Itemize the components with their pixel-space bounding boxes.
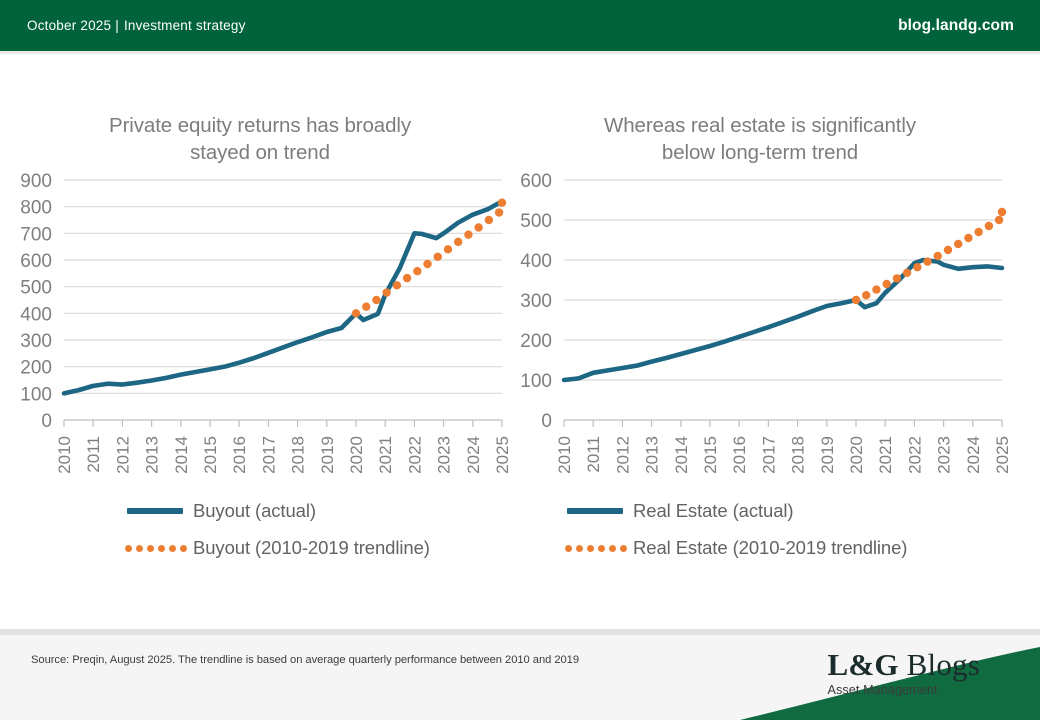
chart-title-line1: Private equity returns has broadly — [10, 112, 510, 139]
x-axis-tick-label: 2021 — [376, 436, 395, 474]
y-axis-tick-label: 800 — [20, 198, 52, 219]
logo-blogs: Blogs — [907, 647, 980, 682]
brand-logo: L&G Blogs Asset Management — [827, 648, 980, 697]
y-axis-tick-label: 900 — [20, 172, 52, 192]
legend-key-solid-line-icon — [123, 504, 185, 518]
y-axis-tick-label: 600 — [520, 172, 552, 192]
legend-item-actual[interactable]: Buyout (actual) — [10, 492, 510, 529]
x-axis-tick-label: 2023 — [935, 436, 954, 474]
chart-title-line2: stayed on trend — [10, 139, 510, 166]
header-separator: | — [111, 18, 124, 33]
series-line-actual — [564, 260, 1002, 380]
y-axis-tick-label: 400 — [20, 304, 52, 325]
chart-panel-private-equity: Private equity returns has broadly staye… — [10, 54, 510, 629]
legend-real-estate: Real Estate (actual) Real Estate (2010-2… — [510, 492, 1010, 566]
y-axis-tick-label: 500 — [20, 278, 52, 299]
header-meta: October 2025|Investment strategy — [27, 18, 246, 33]
x-axis-tick-label: 2019 — [818, 436, 837, 474]
header-date: October 2025 — [27, 18, 111, 33]
legend-label-trendline: Real Estate (2010-2019 trendline) — [633, 537, 907, 559]
x-axis-tick-label: 2011 — [584, 436, 603, 473]
x-axis-tick-label: 2023 — [435, 436, 454, 474]
y-axis-tick-label: 100 — [20, 384, 52, 405]
y-axis-tick-label: 0 — [541, 411, 552, 432]
charts-board: Private equity returns has broadly staye… — [0, 54, 1040, 629]
logo-tagline: Asset Management — [827, 683, 980, 697]
x-axis-tick-label: 2012 — [613, 436, 632, 474]
x-axis-tick-label: 2012 — [113, 436, 132, 474]
x-axis-tick-label: 2021 — [876, 436, 895, 474]
x-axis-tick-label: 2011 — [84, 436, 103, 473]
x-axis-tick-label: 2016 — [230, 436, 249, 474]
series-dots-trendline — [852, 208, 1006, 304]
x-axis-tick-label: 2024 — [464, 436, 483, 474]
y-axis-tick-label: 200 — [520, 331, 552, 352]
x-axis-tick-label: 2013 — [143, 436, 162, 474]
x-axis-tick-label: 2025 — [993, 436, 1010, 474]
header-category: Investment strategy — [124, 18, 246, 33]
legend-key-solid-line-icon — [563, 504, 625, 518]
header-site-link[interactable]: blog.landg.com — [898, 17, 1014, 35]
x-axis-tick-label: 2019 — [318, 436, 337, 474]
x-axis-tick-label: 2022 — [405, 436, 424, 474]
y-axis-tick-label: 500 — [520, 211, 552, 232]
x-axis-tick-label: 2015 — [201, 436, 220, 474]
x-axis-tick-label: 2025 — [493, 436, 510, 474]
page-header: October 2025|Investment strategy blog.la… — [0, 0, 1040, 51]
x-axis-tick-label: 2016 — [730, 436, 749, 474]
x-axis-tick-label: 2018 — [289, 436, 308, 474]
y-axis-tick-label: 200 — [20, 358, 52, 379]
legend-item-trendline[interactable]: Real Estate (2010-2019 trendline) — [510, 529, 1010, 566]
x-axis-tick-label: 2010 — [555, 436, 574, 474]
chart-title-line2: below long-term trend — [510, 139, 1010, 166]
chart-title-private-equity: Private equity returns has broadly staye… — [10, 112, 510, 166]
x-axis-tick-label: 2020 — [347, 436, 366, 474]
y-axis-tick-label: 600 — [20, 251, 52, 272]
x-axis-tick-label: 2014 — [172, 436, 191, 474]
page-footer: Source: Preqin, August 2025. The trendli… — [0, 635, 1040, 720]
y-axis-tick-label: 700 — [20, 224, 52, 245]
legend-item-trendline[interactable]: Buyout (2010-2019 trendline) — [10, 529, 510, 566]
y-axis-tick-label: 300 — [20, 331, 52, 352]
series-line-actual — [64, 201, 502, 393]
legend-label-actual: Real Estate (actual) — [633, 500, 793, 522]
y-axis-tick-label: 0 — [41, 411, 52, 432]
x-axis-tick-label: 2018 — [789, 436, 808, 474]
x-axis-tick-label: 2024 — [964, 436, 983, 474]
x-axis-tick-label: 2017 — [259, 436, 278, 474]
x-axis-tick-label: 2013 — [643, 436, 662, 474]
legend-label-trendline: Buyout (2010-2019 trendline) — [193, 537, 430, 559]
y-axis-tick-label: 300 — [520, 291, 552, 312]
logo-wordmark: L&G Blogs — [827, 648, 980, 682]
y-axis-tick-label: 100 — [520, 371, 552, 392]
legend-item-actual[interactable]: Real Estate (actual) — [510, 492, 1010, 529]
x-axis-tick-label: 2014 — [672, 436, 691, 474]
series-dots-trendline — [352, 198, 506, 317]
legend-key-dotted-line-icon — [563, 541, 625, 555]
chart-panel-real-estate: Whereas real estate is significantly bel… — [510, 54, 1010, 629]
source-note: Source: Preqin, August 2025. The trendli… — [31, 654, 579, 666]
y-axis-tick-label: 400 — [520, 251, 552, 272]
logo-lg: L&G — [827, 647, 898, 682]
x-axis-tick-label: 2017 — [759, 436, 778, 474]
chart-title-real-estate: Whereas real estate is significantly bel… — [510, 112, 1010, 166]
x-axis-tick-label: 2015 — [701, 436, 720, 474]
x-axis-tick-label: 2022 — [905, 436, 924, 474]
x-axis-tick-label: 2010 — [55, 436, 74, 474]
legend-key-dotted-line-icon — [123, 541, 185, 555]
legend-private-equity: Buyout (actual) Buyout (2010-2019 trendl… — [10, 492, 510, 566]
chart-title-line1: Whereas real estate is significantly — [510, 112, 1010, 139]
x-axis-tick-label: 2020 — [847, 436, 866, 474]
legend-label-actual: Buyout (actual) — [193, 500, 316, 522]
